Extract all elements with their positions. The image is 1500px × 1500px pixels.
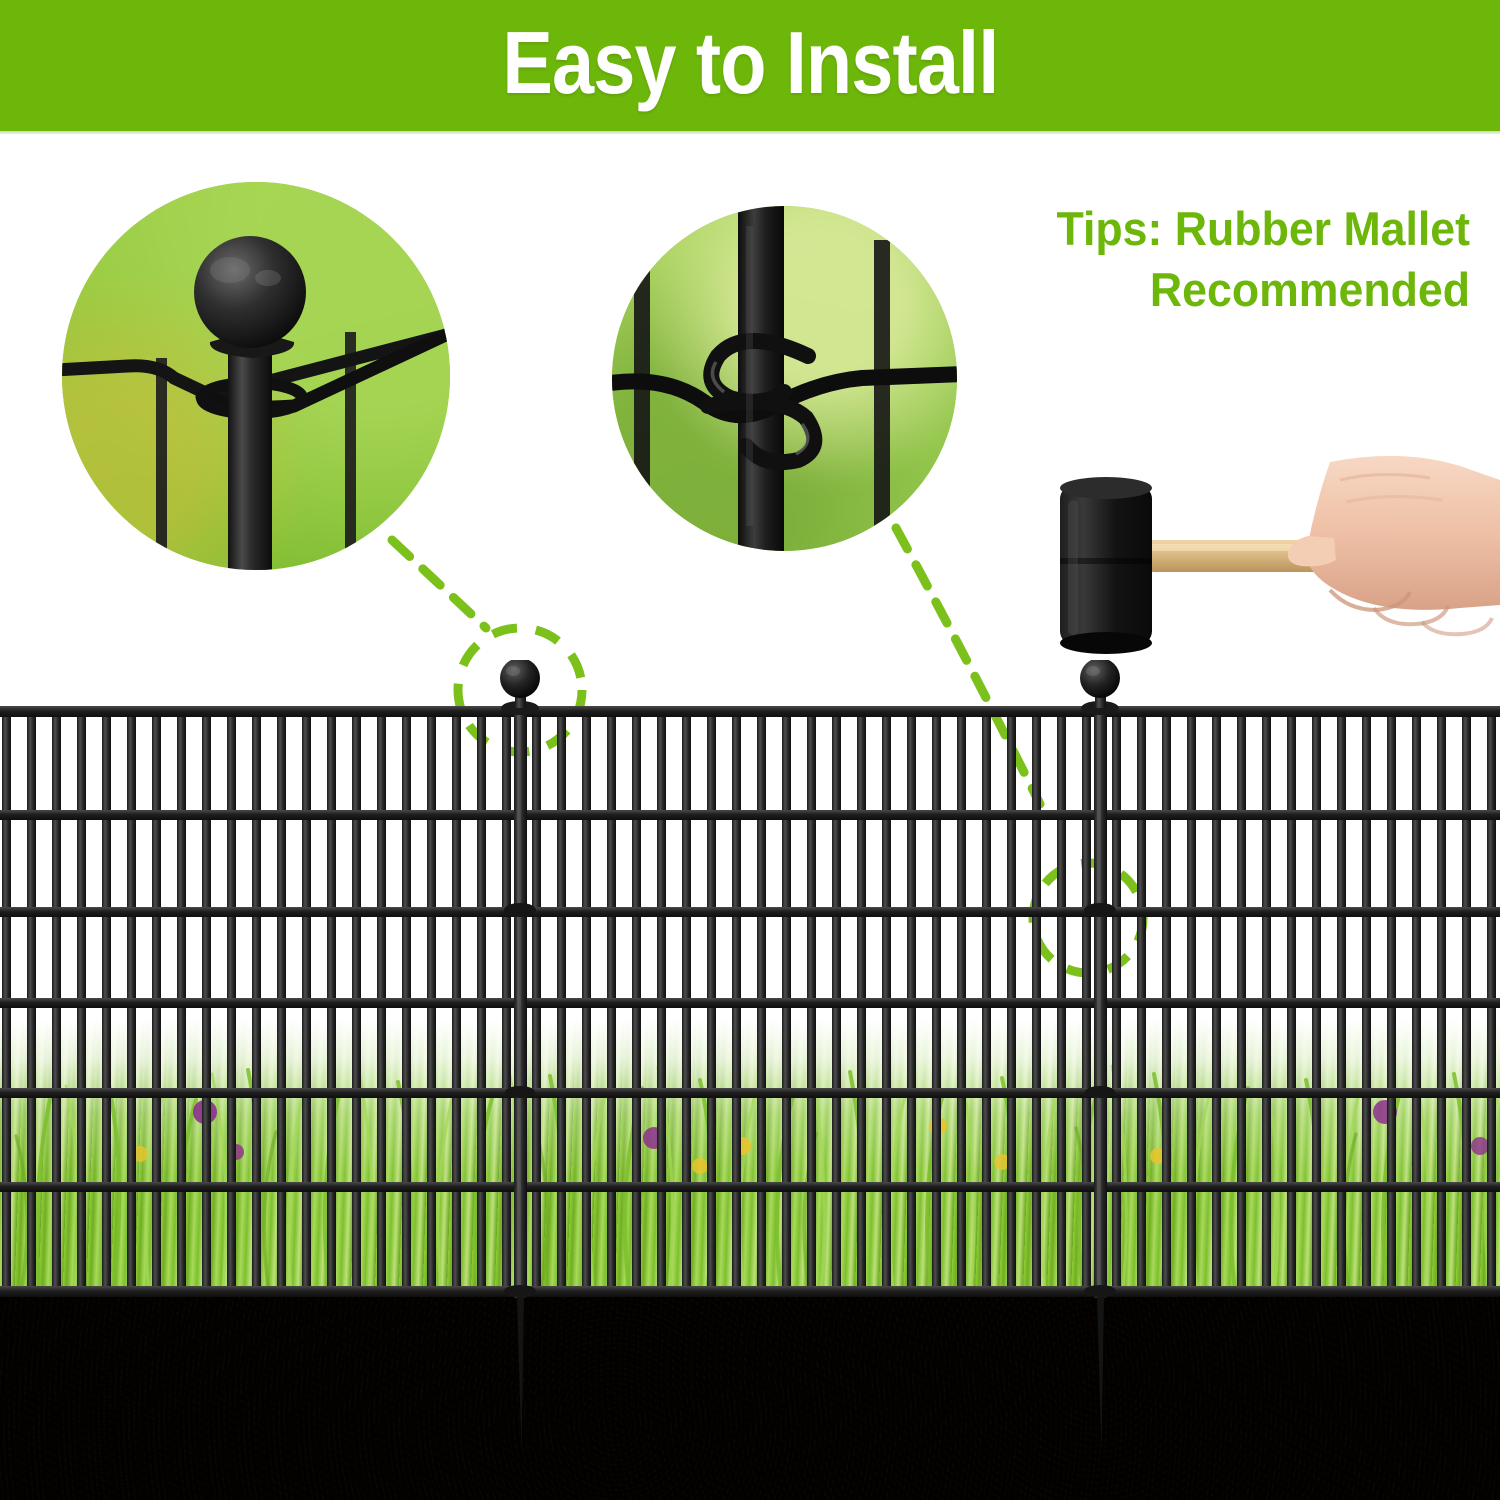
hand	[1288, 456, 1500, 634]
fence-scene	[0, 660, 1500, 1500]
fence-horizontal-rails	[0, 706, 1500, 1297]
product-marketing-image: Easy to Install Tips: Rubber Mallet Reco…	[0, 0, 1500, 1500]
mallet-head	[1060, 477, 1152, 654]
rubber-mallet-in-hand	[1030, 440, 1500, 675]
callout-ball-leader-line	[392, 540, 486, 628]
garden-fence	[0, 660, 1500, 1500]
